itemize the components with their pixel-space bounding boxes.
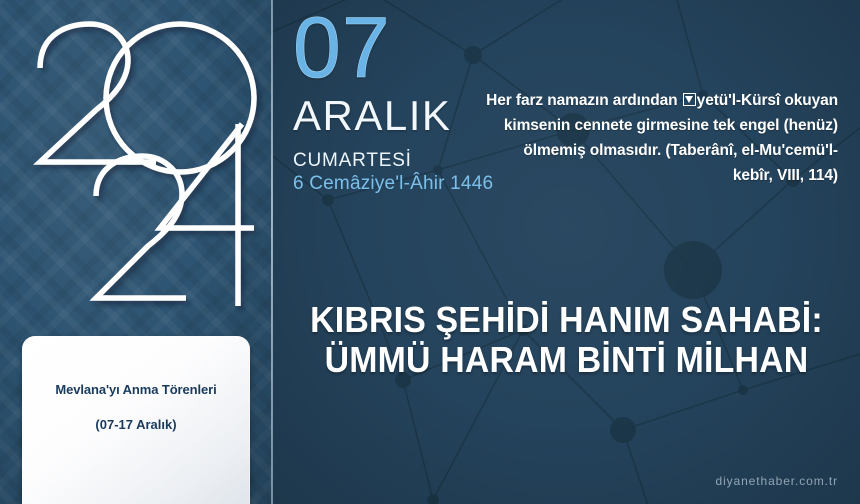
event-card[interactable]: Mevlana'yı Anma Törenleri (07-17 Aralık): [22, 336, 250, 504]
page-title-line-2: ÜMMÜ HARAM BİNTİ MİLHAN: [302, 340, 831, 380]
day-number: 07: [293, 8, 493, 90]
event-card-name: Mevlana'yı Anma Törenleri: [38, 382, 234, 397]
weekday-name: CUMARTESİ: [293, 150, 493, 172]
hadith-line-1-part-2: yetü'l-Kürsî okuyan: [697, 92, 838, 109]
hadith-line-1-part-1: Her farz namazın ardından: [486, 92, 682, 109]
page-title: KIBRIS ŞEHİDİ HANIM SAHABİ: ÜMMÜ HARAM B…: [302, 300, 831, 381]
watermark: diyanethaber.com.tr: [716, 474, 839, 488]
right-panel: 07 ARALIK CUMARTESİ 6 Cemâziye'l-Âhir 14…: [273, 0, 860, 504]
event-card-dates: (07-17 Aralık): [38, 417, 234, 432]
page-title-line-1: KIBRIS ŞEHİDİ HANIM SAHABİ:: [302, 300, 831, 340]
calendar-page: Mevlana'yı Anma Törenleri (07-17 Aralık): [0, 0, 860, 504]
month-name: ARALIK: [293, 94, 493, 138]
missing-glyph-box-icon: [683, 93, 696, 106]
year-2024-graphic: [10, 6, 268, 326]
date-block: 07 ARALIK CUMARTESİ 6 Cemâziye'l-Âhir 14…: [293, 8, 493, 195]
hadith-line-4: VIII, 114): [777, 167, 838, 184]
hadith-text: Her farz namazın ardından yetü'l-Kürsî o…: [486, 88, 838, 188]
hijri-date: 6 Cemâziye'l-Âhir 1446: [293, 173, 493, 196]
hadith-line-2: kimsenin cennete girmesine tek engel (he…: [504, 117, 838, 134]
left-panel: Mevlana'yı Anma Törenleri (07-17 Aralık): [0, 0, 272, 504]
